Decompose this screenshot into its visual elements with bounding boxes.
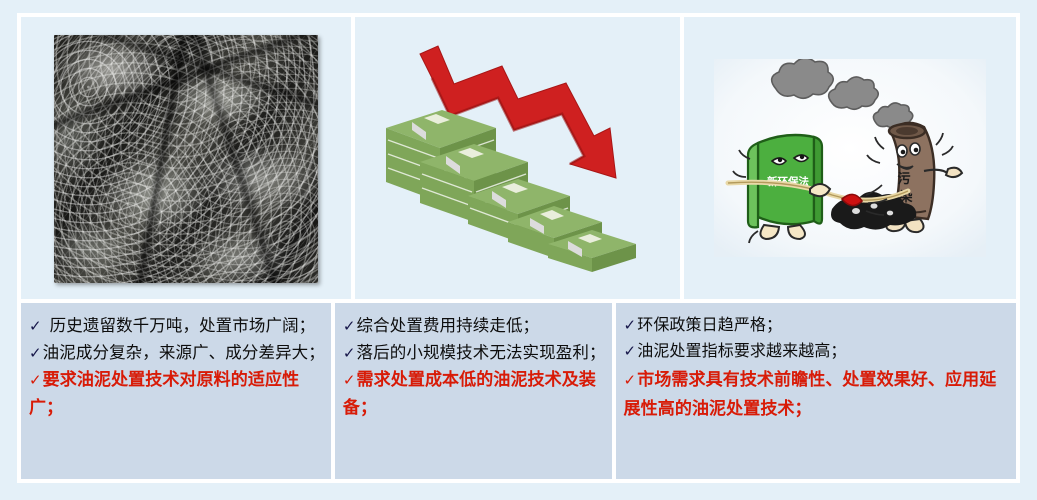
money-chart-svg (384, 36, 652, 280)
text-cell-market-scale: ✓历史遗留数千万吨，处置市场广阔； ✓油泥成分复杂，来源广、成分差异大； ✓要求… (19, 301, 333, 481)
check-icon: ✓ (29, 345, 43, 362)
list-item-label: 要求油泥处置技术对原料的适应性广； (29, 370, 299, 417)
cartoon-svg: 污 染 (714, 59, 986, 257)
image-cell-market-scale (19, 15, 353, 301)
check-icon: ✓ (343, 318, 357, 335)
oil-sludge-photo (54, 35, 318, 283)
image-row: 污 染 (19, 15, 1018, 301)
list-item: ✓历史遗留数千万吨，处置市场广阔； (29, 313, 325, 340)
sludge-crack-layer (54, 35, 318, 283)
list-item-label: 落后的小规模技术无法实现盈利； (357, 344, 606, 362)
image-cell-policy: 污 染 (682, 15, 1018, 301)
declining-money-chart (384, 36, 652, 280)
text-cell-policy: ✓环保政策日趋严格； ✓油泥处置指标要求越来越高； ✓市场需求具有技术前瞻性、处… (614, 301, 1018, 481)
check-icon: ✓ (29, 318, 50, 335)
list-item-label: 油泥成分复杂，来源广、成分差异大； (43, 344, 325, 362)
list-item-highlight: ✓需求处置成本低的油泥技术及装备； (343, 366, 606, 421)
three-column-table: 污 染 (17, 13, 1020, 483)
list-item: ✓油泥处置指标要求越来越高； (624, 339, 1010, 365)
list-item-highlight: ✓市场需求具有技术前瞻性、处置效果好、应用延展性高的油泥处置技术； (624, 365, 1010, 423)
list-item-label: 历史遗留数千万吨，处置市场广阔； (50, 317, 316, 335)
list-item-highlight: ✓要求油泥处置技术对原料的适应性广； (29, 366, 325, 421)
check-icon: ✓ (624, 343, 638, 360)
check-icon: ✓ (343, 372, 357, 389)
check-icon: ✓ (343, 345, 357, 362)
environment-law-cartoon: 污 染 (714, 59, 986, 257)
text-row: ✓历史遗留数千万吨，处置市场广阔； ✓油泥成分复杂，来源广、成分差异大； ✓要求… (19, 301, 1018, 481)
list-item-label: 市场需求具有技术前瞻性、处置效果好、应用延展性高的油泥处置技术； (624, 370, 997, 418)
smokestack-label: 污 (897, 171, 910, 187)
slide-root: 污 染 (0, 0, 1037, 500)
list-item: ✓环保政策日趋严格； (624, 313, 1010, 339)
check-icon: ✓ (624, 372, 638, 389)
list-item: ✓综合处置费用持续走低； (343, 313, 606, 340)
list-item: ✓落后的小规模技术无法实现盈利； (343, 340, 606, 367)
list-item-label: 油泥处置指标要求越来越高； (637, 343, 846, 360)
image-cell-cost-decline (353, 15, 682, 301)
list-item: ✓油泥成分复杂，来源广、成分差异大； (29, 340, 325, 367)
check-icon: ✓ (29, 372, 43, 389)
list-item-label: 综合处置费用持续走低； (357, 317, 540, 335)
text-cell-cost-decline: ✓综合处置费用持续走低； ✓落后的小规模技术无法实现盈利； ✓需求处置成本低的油… (333, 301, 614, 481)
check-icon: ✓ (624, 317, 638, 334)
list-item-label: 需求处置成本低的油泥技术及装备； (343, 370, 596, 417)
list-item-label: 环保政策日趋严格； (637, 317, 782, 334)
